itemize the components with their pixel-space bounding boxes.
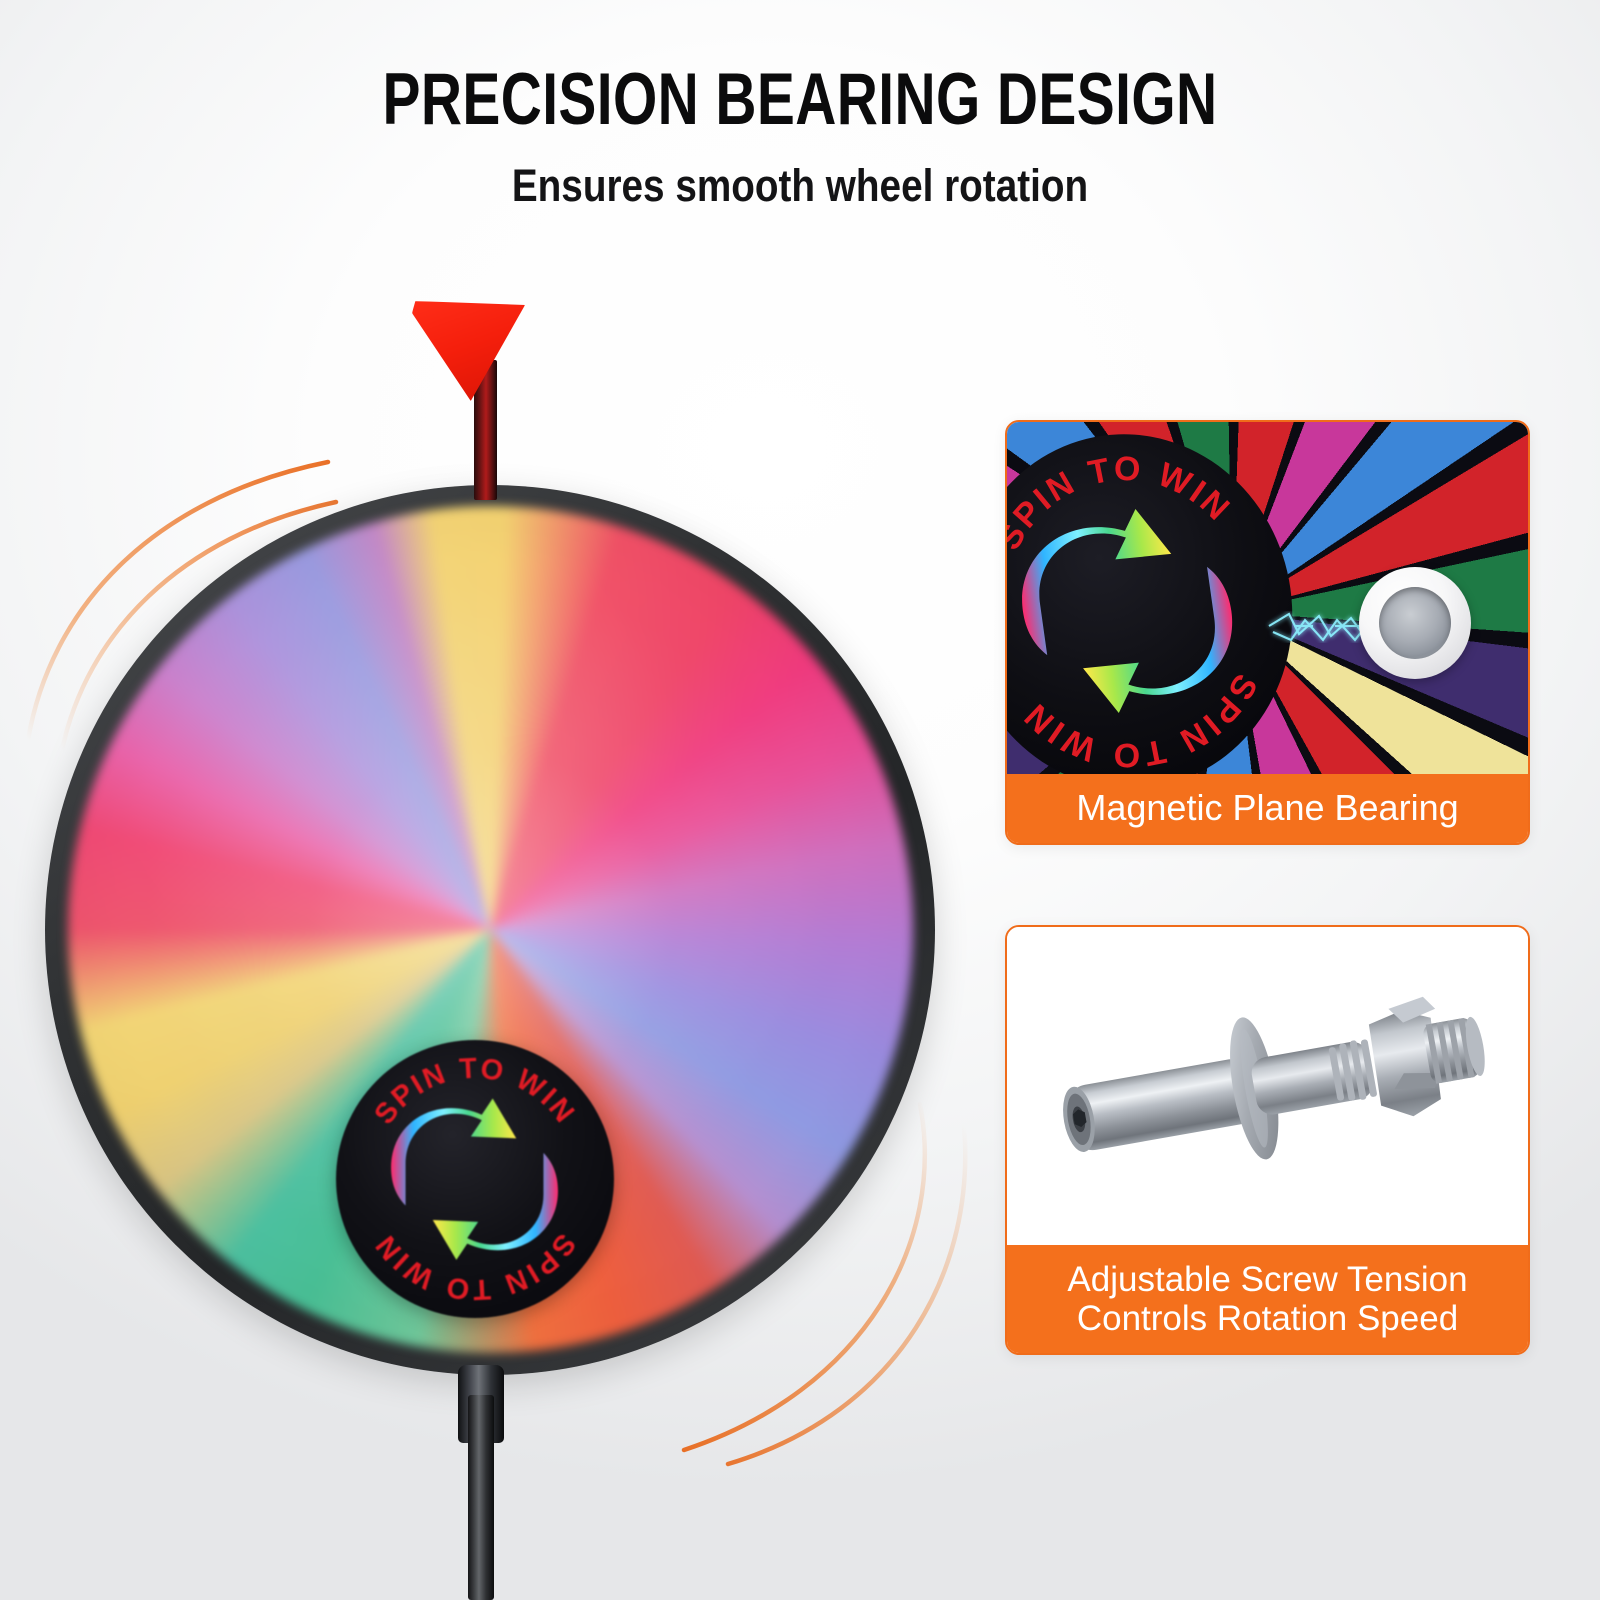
- callout-screw-caption: Adjustable Screw Tension Controls Rotati…: [1007, 1245, 1528, 1353]
- magnetic-bearing-cap: [1359, 567, 1471, 679]
- page-subtitle: Ensures smooth wheel rotation: [112, 160, 1488, 212]
- caption-line: Controls Rotation Speed: [1077, 1299, 1458, 1338]
- callout-bearing-caption: Magnetic Plane Bearing: [1007, 774, 1528, 843]
- wheel-hub-label: SPIN TO WIN SPIN TO WIN: [336, 1040, 614, 1318]
- header-block: PRECISION BEARING DESIGN Ensures smooth …: [0, 62, 1600, 212]
- stand-pole: [468, 1395, 494, 1600]
- callout-adjustable-screw-tension[interactable]: Adjustable Screw Tension Controls Rotati…: [1005, 925, 1530, 1355]
- caption-line: Magnetic Plane Bearing: [1076, 788, 1458, 828]
- recycle-arrows-icon: [380, 1093, 569, 1265]
- caption-line: Adjustable Screw Tension: [1067, 1260, 1467, 1299]
- pointer-flag-icon: [412, 301, 525, 401]
- axle-bolt-illustration: [1034, 954, 1500, 1218]
- prize-wheel-assembly: SPIN TO WIN SPIN TO WIN: [0, 270, 980, 1600]
- page-title: PRECISION BEARING DESIGN: [176, 62, 1424, 138]
- callout-magnetic-plane-bearing[interactable]: SPIN TO WIN SPIN TO WIN: [1005, 420, 1530, 845]
- callout-bearing-image: SPIN TO WIN SPIN TO WIN: [1007, 422, 1528, 774]
- callout-screw-image: [1007, 927, 1528, 1245]
- callout-recycle-arrows-icon: [1007, 487, 1253, 736]
